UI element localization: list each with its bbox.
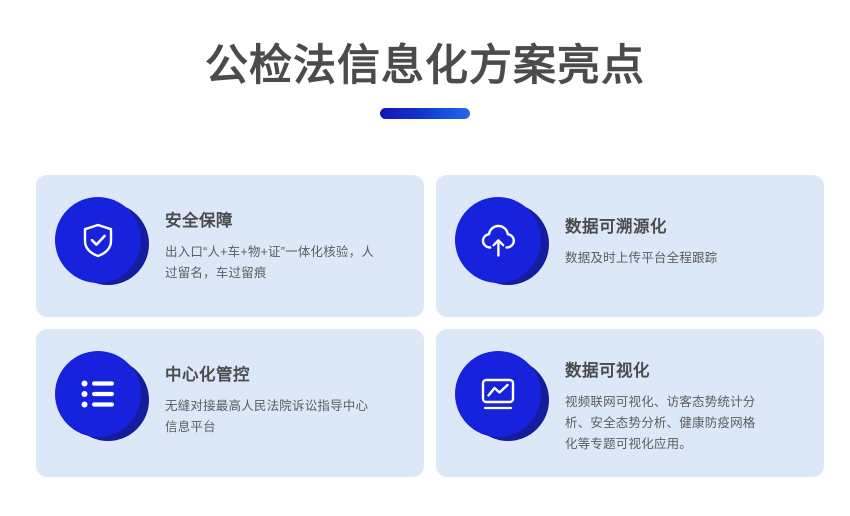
highlight-card-data-traceability[interactable]: 数据可溯源化 数据及时上传平台全程跟踪: [436, 175, 824, 317]
shield-check-icon: [78, 220, 118, 260]
card-text: 中心化管控 无缝对接最高人民法院诉讼指导中心信息平台: [159, 351, 377, 438]
cloud-upload-icon: [477, 220, 519, 260]
title-underline-accent: [380, 108, 470, 119]
card-text: 数据可溯源化 数据及时上传平台全程跟踪: [559, 197, 717, 269]
card-title: 数据可溯源化: [565, 217, 717, 237]
highlight-cards-grid: 安全保障 出入口“人+车+物+证”一体化核验，人过留名，车过留痕: [36, 175, 815, 477]
icon-circle: [455, 197, 541, 283]
card-title: 安全保障: [165, 211, 377, 231]
highlights-page: 公检法信息化方案亮点 安全保障 出入口“人+车+物+证”一体化核: [0, 0, 850, 516]
icon-circle: [455, 351, 541, 437]
card-description: 出入口“人+车+物+证”一体化核验，人过留名，车过留痕: [165, 242, 377, 284]
card-description: 无缝对接最高人民法院诉讼指导中心信息平台: [165, 396, 377, 438]
card-title: 中心化管控: [165, 365, 377, 385]
card-title: 数据可视化: [565, 361, 765, 381]
page-header: 公检法信息化方案亮点: [0, 0, 850, 119]
bullet-list-icon: [78, 377, 118, 411]
highlight-card-data-visualization[interactable]: 数据可视化 视频联网可视化、访客态势统计分析、安全态势分析、健康防疫网格化等专题…: [436, 329, 824, 477]
page-title: 公检法信息化方案亮点: [0, 38, 850, 94]
icon-badge: [455, 351, 553, 449]
highlight-card-centralized-control[interactable]: 中心化管控 无缝对接最高人民法院诉讼指导中心信息平台: [36, 329, 424, 477]
icon-circle: [55, 197, 141, 283]
icon-circle: [55, 351, 141, 437]
icon-badge: [55, 197, 153, 295]
icon-badge: [55, 351, 153, 449]
card-text: 数据可视化 视频联网可视化、访客态势统计分析、安全态势分析、健康防疫网格化等专题…: [559, 351, 765, 455]
chart-monitor-icon: [478, 375, 518, 413]
icon-badge: [455, 197, 553, 295]
card-text: 安全保障 出入口“人+车+物+证”一体化核验，人过留名，车过留痕: [159, 197, 377, 284]
card-description: 视频联网可视化、访客态势统计分析、安全态势分析、健康防疫网格化等专题可视化应用。: [565, 392, 765, 455]
card-description: 数据及时上传平台全程跟踪: [565, 248, 717, 269]
highlight-card-security[interactable]: 安全保障 出入口“人+车+物+证”一体化核验，人过留名，车过留痕: [36, 175, 424, 317]
